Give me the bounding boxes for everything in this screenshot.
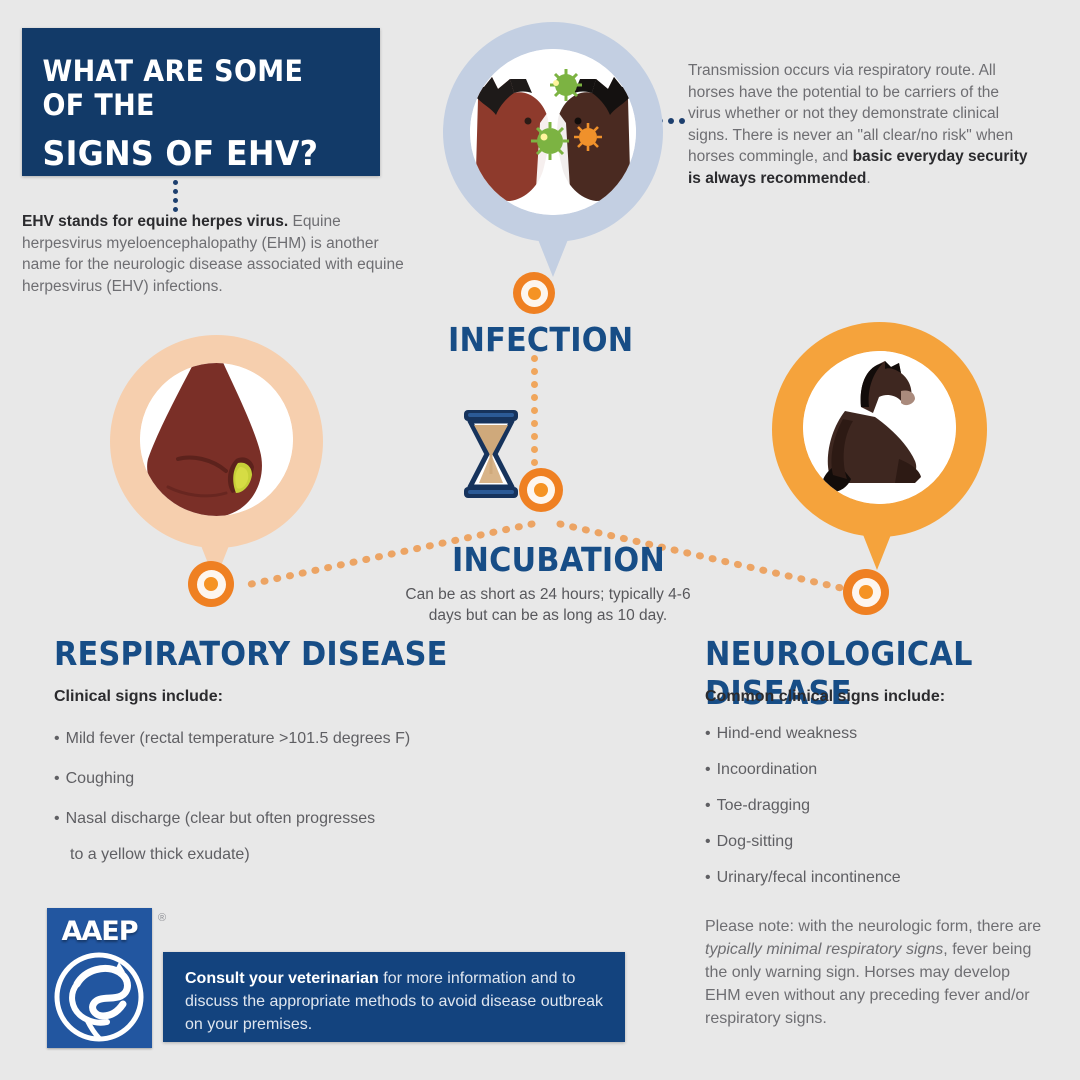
- consult-bold-text: Consult your veterinarian: [185, 970, 379, 987]
- marker-mid-ring: [852, 578, 881, 607]
- hourglass-icon: [456, 408, 526, 500]
- list-item: •Incoordination: [705, 758, 1065, 781]
- dog-sitting-horse-icon: [803, 351, 956, 504]
- infection-incubation-connector: [531, 355, 538, 467]
- consult-banner: Consult your veterinarian for more infor…: [163, 952, 625, 1042]
- marker-mid-ring: [521, 280, 548, 307]
- ehv-definition-text: EHV stands for equine herpes virus. Equi…: [22, 211, 412, 297]
- list-item: •Dog-sitting: [705, 830, 1065, 853]
- respiratory-target-marker: [188, 561, 234, 607]
- aaep-wordmark: AAEP: [47, 916, 152, 947]
- title-banner: What are some of the Signs of EHV?: [22, 28, 380, 176]
- list-item-label: Hind-end weakness: [717, 725, 858, 742]
- list-item: •Nasal discharge (clear but often progre…: [54, 807, 524, 866]
- list-item: •Urinary/fecal incontinence: [705, 866, 1065, 889]
- bullet-dot: •: [54, 730, 60, 747]
- bullet-dot: •: [705, 869, 711, 886]
- consult-text: Consult your veterinarian for more infor…: [163, 952, 625, 1036]
- horse-muzzle-discharge-icon: [140, 363, 293, 516]
- bullet-dot: •: [54, 810, 60, 827]
- marker-core: [528, 287, 541, 300]
- marker-mid-ring: [197, 570, 226, 599]
- respiratory-illustration-bubble: [110, 335, 330, 590]
- list-item: •Mild fever (rectal temperature >101.5 d…: [54, 727, 524, 750]
- incubation-target-marker: [519, 468, 563, 512]
- list-item-continuation: to a yellow thick exudate): [54, 843, 524, 866]
- marker-mid-ring: [527, 476, 555, 504]
- neurological-note: Please note: with the neurologic form, t…: [705, 915, 1050, 1030]
- note-italic-phrase: typically minimal respiratory signs: [705, 941, 943, 958]
- neurological-bullet-list: •Hind-end weakness •Incoordination •Toe-…: [705, 722, 1065, 889]
- list-item: •Hind-end weakness: [705, 722, 1065, 745]
- ehv-definition-lead: EHV stands for equine herpes virus.: [22, 213, 288, 230]
- bullet-dot: •: [705, 833, 711, 850]
- infection-heading: INFECTION: [448, 320, 633, 359]
- neurological-list-title: Common clinical signs include:: [705, 688, 1065, 706]
- infection-target-marker: [513, 272, 555, 314]
- list-item-label: Dog-sitting: [717, 833, 793, 850]
- list-item: •Coughing: [54, 767, 524, 790]
- list-item-label: Toe-dragging: [717, 797, 810, 814]
- incubation-detail: Can be as short as 24 hours; typically 4…: [393, 584, 703, 626]
- respiratory-list-block: Clinical signs include: •Mild fever (rec…: [54, 688, 524, 883]
- note-part-1: Please note: with the neurologic form, t…: [705, 918, 1041, 935]
- list-item-label: Urinary/fecal incontinence: [717, 869, 901, 886]
- transmission-tail: .: [866, 170, 870, 187]
- title-line-2: Signs of EHV?: [22, 122, 355, 174]
- marker-core: [534, 483, 548, 497]
- neurological-illustration-bubble: [772, 322, 994, 580]
- neurological-target-marker: [843, 569, 889, 615]
- aaep-logo: AAEP: [47, 908, 152, 1048]
- registered-trademark-mark: ®: [158, 912, 166, 924]
- incubation-heading: INCUBATION: [452, 540, 665, 579]
- respiratory-list-title: Clinical signs include:: [54, 688, 524, 706]
- bullet-dot: •: [705, 725, 711, 742]
- title-connector-dots: [173, 180, 179, 214]
- respiratory-bullet-list: •Mild fever (rectal temperature >101.5 d…: [54, 727, 524, 866]
- list-item-label: Coughing: [66, 770, 135, 787]
- bullet-dot: •: [705, 761, 711, 778]
- list-item: •Toe-dragging: [705, 794, 1065, 817]
- infection-illustration-bubble: [443, 22, 663, 282]
- respiratory-heading: RESPIRATORY DISEASE: [54, 634, 448, 673]
- transmission-text: Transmission occurs via respiratory rout…: [688, 60, 1036, 189]
- infographic-canvas: What are some of the Signs of EHV? EHV s…: [0, 0, 1080, 1080]
- bullet-dot: •: [705, 797, 711, 814]
- bullet-dot: •: [54, 770, 60, 787]
- list-item-label: Mild fever (rectal temperature >101.5 de…: [66, 730, 411, 747]
- aaep-horse-emblem: [47, 950, 152, 1045]
- neurological-list-block: Common clinical signs include: •Hind-end…: [705, 688, 1065, 902]
- two-horses-virus-icon: [470, 49, 636, 215]
- marker-core: [859, 585, 873, 599]
- marker-core: [204, 577, 218, 591]
- title-line-1: What are some of the: [22, 28, 355, 122]
- list-item-label: Incoordination: [717, 761, 818, 778]
- list-item-label: Nasal discharge (clear but often progres…: [66, 810, 376, 827]
